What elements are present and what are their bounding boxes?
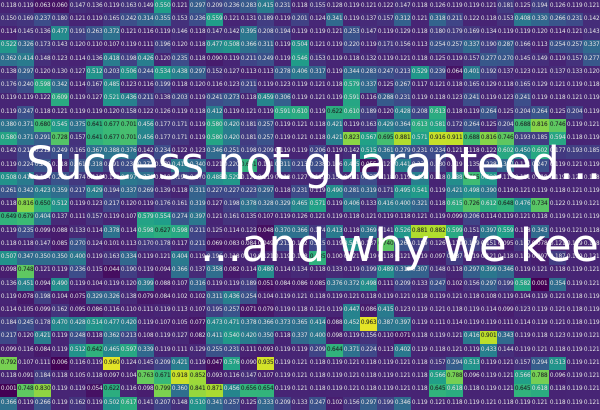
heatmap-cell-value: 0.203 [104, 70, 120, 76]
heatmap-cell-value: 0.119 [275, 308, 291, 314]
heatmap-cell-value: 0.147 [395, 4, 411, 10]
heatmap-cell: 0.125 [377, 79, 394, 92]
heatmap-cell-value: 0.119 [498, 176, 514, 182]
heatmap-cell-value: 0.115 [86, 268, 102, 274]
heatmap-cell: 0.136 [86, 0, 103, 13]
heatmap-cell-value: 0.612 [481, 202, 497, 208]
heatmap-cell-value: 0.326 [18, 43, 34, 49]
heatmap-cell-value: 0.498 [464, 189, 480, 195]
heatmap-cell-value: 0.125 [481, 123, 497, 129]
heatmap-cell-value: 0.622 [104, 387, 120, 393]
heatmap-cell-value: 0.119 [138, 202, 154, 208]
heatmap-cell-value: 0.119 [446, 4, 462, 10]
heatmap-cell-value: 0.118 [361, 295, 377, 301]
heatmap-cell: 0.316 [189, 278, 206, 291]
heatmap-cell-value: 0.213 [275, 242, 291, 248]
heatmap-cell-value: 0.121 [532, 70, 548, 76]
heatmap-cell-value: 0.099 [35, 229, 51, 235]
heatmap-cell-value: 0.209 [309, 348, 325, 354]
heatmap-cell-value: 0.559 [498, 229, 514, 235]
heatmap-cell: 0.118 [51, 370, 68, 383]
heatmap-cell-value: 0.119 [584, 215, 600, 221]
heatmap-cell: 0.125 [240, 397, 257, 410]
heatmap-cell: 0.677 [103, 119, 120, 132]
heatmap-cell: 0.118 [86, 370, 103, 383]
heatmap-cell: 0.121 [514, 185, 531, 198]
heatmap-cell-value: 0.615 [446, 202, 462, 208]
heatmap-cell-value: 0.121 [549, 295, 565, 301]
heatmap-cell: 0.130 [51, 66, 68, 79]
heatmap-cell-value: 0.119 [104, 176, 120, 182]
heatmap-cell: 0.119 [566, 278, 583, 291]
heatmap-cell: 0.118 [309, 370, 326, 383]
heatmap-cell: 0.438 [171, 66, 188, 79]
heatmap-cell: 0.123 [514, 304, 531, 317]
heatmap-cell: 0.156 [394, 40, 411, 53]
heatmap-cell-value: 0.119 [566, 334, 582, 340]
heatmap-cell: 0.104 [51, 291, 68, 304]
heatmap-cell-value: 0.249 [258, 57, 274, 63]
heatmap-cell: 0.118 [549, 397, 566, 410]
heatmap-cell-value: 0.240 [18, 83, 34, 89]
heatmap-cell-value: 0.119 [464, 321, 480, 327]
heatmap-cell-value: 0.100 [326, 255, 342, 261]
heatmap-cell: 0.121 [583, 370, 600, 383]
heatmap-cell: 0.121 [343, 172, 360, 185]
heatmap-cell: 0.110 [377, 331, 394, 344]
heatmap-cell: 0.119 [514, 26, 531, 39]
heatmap-cell-value: 0.096 [549, 374, 565, 380]
heatmap-cell-value: 0.248 [69, 334, 85, 340]
heatmap-cell: 0.212 [34, 145, 51, 158]
heatmap-cell-value: 0.178 [35, 321, 51, 327]
heatmap-cell: 0.119 [566, 357, 583, 370]
heatmap-cell: 0.121 [240, 106, 257, 119]
heatmap-cell: 0.118 [86, 331, 103, 344]
heatmap-cell: 0.084 [274, 278, 291, 291]
heatmap-cell: 0.136 [0, 278, 17, 291]
heatmap-cell-value: 0.263 [86, 30, 102, 36]
heatmap-cell-value: 0.137 [52, 215, 68, 221]
heatmap-cell-value: 0.119 [326, 215, 342, 221]
heatmap-cell: 0.119 [103, 212, 120, 225]
heatmap-cell-value: 0.319 [189, 202, 205, 208]
heatmap-cell: 0.294 [446, 357, 463, 370]
heatmap-cell: 0.111 [69, 212, 86, 225]
heatmap-cell-value: 0.236 [69, 268, 85, 274]
heatmap-cell: 0.119 [411, 251, 428, 264]
heatmap-cell-value: 0.119 [566, 361, 582, 367]
heatmap-cell: 0.104 [257, 291, 274, 304]
heatmap-cell-value: 0.194 [275, 30, 291, 36]
heatmap-cell: 0.249 [257, 53, 274, 66]
heatmap-cell: 0.247 [531, 159, 548, 172]
heatmap-cell: 0.181 [240, 119, 257, 132]
heatmap-cell: 0.118 [549, 185, 566, 198]
heatmap-cell: 0.127 [69, 66, 86, 79]
heatmap-cell-value: 0.118 [361, 361, 377, 367]
heatmap-cell: 0.189 [257, 13, 274, 26]
heatmap-cell-value: 0.881 [412, 229, 428, 235]
heatmap-cell: 0.121 [446, 344, 463, 357]
heatmap-cell: 0.399 [480, 265, 497, 278]
heatmap-cell-value: 0.121 [309, 83, 325, 89]
heatmap-cell-value: 0.317 [395, 268, 411, 274]
heatmap-cell: 0.418 [103, 53, 120, 66]
heatmap-cell: 0.318 [429, 13, 446, 26]
heatmap-cell-value: 0.397 [395, 321, 411, 327]
heatmap-cell: 0.121 [51, 106, 68, 119]
heatmap-cell-value: 0.121 [566, 215, 582, 221]
heatmap-cell-value: 0.116 [121, 387, 137, 393]
heatmap-cell: 0.119 [566, 265, 583, 278]
heatmap-cell: 0.208 [411, 106, 428, 119]
heatmap-cell-value: 0.110 [121, 308, 137, 314]
heatmap-cell: 0.085 [51, 238, 68, 251]
heatmap-cell: 0.415 [171, 159, 188, 172]
heatmap-cell-value: 0.118 [189, 57, 205, 63]
heatmap-cell-value: 0.123 [189, 149, 205, 155]
heatmap-cell: 0.141 [137, 397, 154, 410]
heatmap-cell-value: 0.121 [566, 229, 582, 235]
heatmap-cell: 0.049 [257, 238, 274, 251]
heatmap-cell-value: 0.118 [378, 176, 394, 182]
heatmap-cell-value: 0.098 [326, 334, 342, 340]
heatmap-cell-value: 0.194 [104, 189, 120, 195]
heatmap-cell-value: 0.118 [35, 110, 51, 116]
heatmap-cell: 0.911 [446, 132, 463, 145]
heatmap-cell: 0.118 [240, 93, 257, 106]
heatmap-cell: 0.194 [274, 26, 291, 39]
heatmap-cell-value: 0.116 [104, 308, 120, 314]
heatmap-cell: 0.288 [377, 93, 394, 106]
heatmap-cell: 0.119 [497, 291, 514, 304]
heatmap-cell-value: 0.119 [361, 43, 377, 49]
heatmap-cell: 0.118 [497, 251, 514, 264]
heatmap-cell: 0.370 [274, 225, 291, 238]
heatmap-cell: 0.149 [531, 53, 548, 66]
heatmap-cell: 0.180 [429, 26, 446, 39]
heatmap-cell-value: 0.118 [378, 255, 394, 261]
heatmap-cell: 0.138 [0, 66, 17, 79]
heatmap-cell-value: 0.118 [1, 242, 17, 248]
heatmap-cell-value: 0.852 [189, 374, 205, 380]
heatmap-cell-value: 0.220 [224, 162, 240, 168]
heatmap-cell: 0.434 [411, 172, 428, 185]
heatmap-cell-value: 0.119 [275, 43, 291, 49]
heatmap-cell: 0.504 [291, 40, 308, 53]
heatmap-cell: 0.119 [514, 397, 531, 410]
heatmap-cell-value: 0.107 [258, 215, 274, 221]
heatmap-cell: 0.121 [394, 384, 411, 397]
heatmap-cell: 0.452 [343, 317, 360, 330]
heatmap-cell-value: 0.118 [549, 189, 565, 195]
heatmap-cell: 0.121 [480, 251, 497, 264]
heatmap-cell-value: 0.118 [429, 176, 445, 182]
heatmap-cell-value: 0.119 [515, 255, 531, 261]
heatmap-cell-value: 0.209 [258, 149, 274, 155]
heatmap-cell-value: 0.512 [86, 70, 102, 76]
heatmap-cell-value: 0.119 [104, 4, 120, 10]
heatmap-cell-value: 0.121 [584, 268, 600, 274]
heatmap-cell-value: 0.264 [532, 110, 548, 116]
heatmap-cell-value: 0.436 [224, 295, 240, 301]
heatmap-cell-value: 0.111 [35, 361, 51, 367]
heatmap-cell: 0.515 [360, 145, 377, 158]
heatmap-cell-value: 0.114 [1, 30, 17, 36]
heatmap-cell-value: 0.123 [275, 83, 291, 89]
heatmap-cell-value: 0.654 [258, 387, 274, 393]
heatmap-cell-value: 0.114 [69, 57, 85, 63]
heatmap-cell: 0.171 [377, 185, 394, 198]
heatmap-cell-value: 0.270 [69, 242, 85, 248]
heatmap-cell-value: 0.199 [464, 242, 480, 248]
heatmap-cell: 0.119 [411, 93, 428, 106]
heatmap-cell: 0.121 [343, 384, 360, 397]
heatmap-cell: 0.123 [274, 79, 291, 92]
heatmap-cell: 0.196 [206, 251, 223, 264]
heatmap-cell: 0.116 [17, 344, 34, 357]
heatmap-cell-value: 0.111 [69, 215, 85, 221]
heatmap-cell: 0.123 [549, 331, 566, 344]
heatmap-cell-value: 0.049 [258, 242, 274, 248]
heatmap-cell: 0.378 [103, 225, 120, 238]
heatmap-cell: 0.119 [189, 132, 206, 145]
heatmap-cell-value: 0.748 [18, 268, 34, 274]
heatmap-cell-value: 0.121 [481, 4, 497, 10]
heatmap-cell-value: 0.180 [429, 30, 445, 36]
heatmap-cell: 0.119 [0, 291, 17, 304]
heatmap-cell-value: 0.119 [412, 308, 428, 314]
heatmap-cell: 0.688 [514, 119, 531, 132]
heatmap-cell: 0.235 [171, 53, 188, 66]
heatmap-cell: 0.428 [394, 106, 411, 119]
heatmap-cell: 0.119 [274, 13, 291, 26]
heatmap-cell: 0.121 [531, 265, 548, 278]
heatmap-cell: 0.114 [549, 26, 566, 39]
heatmap-cell-value: 0.147 [361, 30, 377, 36]
heatmap-cell-value: 0.118 [549, 348, 565, 354]
heatmap-cell: 0.650 [34, 198, 51, 211]
heatmap-cell: 0.361 [377, 145, 394, 158]
heatmap-cell-value: 0.099 [446, 215, 462, 221]
heatmap-cell: 0.118 [274, 185, 291, 198]
heatmap-cell: 0.119 [326, 291, 343, 304]
heatmap-cell-value: 0.119 [86, 401, 102, 407]
heatmap-cell-value: 0.118 [172, 83, 188, 89]
heatmap-cell-value: 0.198 [121, 57, 137, 63]
heatmap-cell: 0.121 [360, 0, 377, 13]
heatmap-cell: 0.118 [51, 159, 68, 172]
heatmap-cell: 0.726 [463, 198, 480, 211]
heatmap-cell: 0.257 [446, 40, 463, 53]
heatmap-cell-value: 0.126 [549, 4, 565, 10]
heatmap-cell-value: 0.247 [532, 162, 548, 168]
heatmap-cell: 0.119 [274, 384, 291, 397]
heatmap-cell: 0.119 [291, 79, 308, 92]
heatmap-cell-value: 0.064 [446, 70, 462, 76]
heatmap-cell: 0.242 [120, 13, 137, 26]
heatmap-cell-value: 0.121 [498, 361, 514, 367]
heatmap-cell-value: 0.122 [481, 149, 497, 155]
heatmap-cell: 0.118 [463, 145, 480, 158]
heatmap-cell: 0.612 [480, 198, 497, 211]
heatmap-cell: 0.127 [377, 159, 394, 172]
heatmap-cell-value: 0.209 [395, 281, 411, 287]
heatmap-cell-value: 0.266 [549, 17, 565, 23]
heatmap-cell: 0.137 [51, 212, 68, 225]
heatmap-cell-value: 0.701 [121, 136, 137, 142]
heatmap-cell: 0.375 [69, 119, 86, 132]
heatmap-cell: 0.121 [583, 344, 600, 357]
heatmap-cell: 0.121 [531, 66, 548, 79]
heatmap-cell: 0.195 [206, 304, 223, 317]
heatmap-cell-value: 0.114 [1, 308, 17, 314]
heatmap-cell-value: 0.119 [429, 215, 445, 221]
heatmap-cell: 0.137 [549, 66, 566, 79]
heatmap-cell: 0.119 [583, 317, 600, 330]
heatmap-cell: 0.097 [531, 251, 548, 264]
heatmap-cell: 0.355 [154, 13, 171, 26]
heatmap-cell-value: 0.326 [104, 295, 120, 301]
heatmap-cell: 0.319 [189, 198, 206, 211]
heatmap-cell: 0.121 [549, 238, 566, 251]
heatmap-cell-value: 0.155 [309, 4, 325, 10]
heatmap-cell: 0.099 [0, 344, 17, 357]
heatmap-cell-value: 0.489 [378, 268, 394, 274]
heatmap-cell-value: 0.118 [189, 30, 205, 36]
heatmap-cell-value: 0.191 [104, 162, 120, 168]
heatmap-cell-value: 0.170 [189, 176, 205, 182]
heatmap-cell-value: 0.137 [189, 268, 205, 274]
heatmap-cell: 0.107 [257, 212, 274, 225]
heatmap-cell: 0.118 [326, 79, 343, 92]
heatmap-cell: 0.576 [223, 357, 240, 370]
heatmap-cell: 0.121 [549, 79, 566, 92]
heatmap-cell-value: 0.267 [395, 83, 411, 89]
heatmap-cell-value: 0.264 [464, 123, 480, 129]
heatmap-cell: 0.125 [549, 106, 566, 119]
heatmap-cell: 0.841 [189, 384, 206, 397]
heatmap-cell: 0.609 [51, 93, 68, 106]
heatmap-cell-value: 0.105 [172, 321, 188, 327]
heatmap-cell: 0.254 [549, 40, 566, 53]
heatmap-cell: 0.119 [0, 159, 17, 172]
heatmap-cell-value: 0.253 [344, 30, 360, 36]
heatmap-cell: 0.591 [343, 93, 360, 106]
heatmap-cell: 0.119 [566, 251, 583, 264]
heatmap-cell: 0.116 [120, 384, 137, 397]
heatmap-cell: 0.257 [257, 119, 274, 132]
heatmap-cell: 0.119 [274, 145, 291, 158]
heatmap-cell: 0.187 [549, 251, 566, 264]
heatmap-cell-value: 0.120 [172, 43, 188, 49]
heatmap-cell: 0.266 [34, 159, 51, 172]
heatmap-cell: 0.119 [326, 357, 343, 370]
heatmap-cell-value: 0.147 [35, 242, 51, 248]
heatmap-cell-value: 0.245 [18, 321, 34, 327]
heatmap-cell: 0.098 [137, 384, 154, 397]
heatmap-cell-value: 0.380 [1, 123, 17, 129]
heatmap-cell: 0.217 [103, 198, 120, 211]
heatmap-cell-value: 0.118 [584, 242, 600, 248]
heatmap-cell: 0.366 [0, 397, 17, 410]
heatmap-cell-value: 0.746 [549, 123, 565, 129]
heatmap-cell-value: 0.498 [361, 281, 377, 287]
heatmap-cell: 0.157 [377, 13, 394, 26]
heatmap-cell: 0.118 [360, 357, 377, 370]
heatmap-cell-value: 0.512 [69, 348, 85, 354]
heatmap-cell: 0.546 [291, 53, 308, 66]
heatmap-cell: 0.495 [394, 185, 411, 198]
heatmap-cell: 0.121 [411, 212, 428, 225]
heatmap-cell: 0.594 [549, 132, 566, 145]
heatmap-cell: 0.144 [497, 344, 514, 357]
heatmap-cell-value: 0.916 [429, 136, 445, 142]
heatmap-cell-value: 0.249 [52, 149, 68, 155]
heatmap-cell-value: 0.121 [292, 295, 308, 301]
heatmap-cell: 0.119 [566, 79, 583, 92]
heatmap-cell-value: 0.355 [155, 17, 171, 23]
heatmap-cell-value: 0.119 [52, 334, 68, 340]
heatmap-cell-value: 0.119 [326, 43, 342, 49]
heatmap-cell-value: 0.337 [464, 43, 480, 49]
heatmap-cell: 0.111 [34, 357, 51, 370]
heatmap-cell: 0.119 [566, 384, 583, 397]
heatmap-cell: 0.119 [86, 251, 103, 264]
heatmap-cell: 0.341 [206, 397, 223, 410]
heatmap-cell: 0.119 [566, 331, 583, 344]
heatmap-cell: 0.174 [309, 225, 326, 238]
heatmap-cell-value: 0.125 [241, 401, 257, 407]
heatmap-cell-value: 0.438 [172, 70, 188, 76]
heatmap-cell: 0.740 [377, 238, 394, 251]
heatmap-cell-value: 0.118 [275, 189, 291, 195]
heatmap-cell: 0.107 [189, 304, 206, 317]
heatmap-cell-value: 0.118 [309, 361, 325, 367]
heatmap-cell: 0.104 [86, 278, 103, 291]
heatmap-cell-value: 0.121 [498, 387, 514, 393]
heatmap-cell-value: 0.204 [498, 123, 514, 129]
heatmap-cell: 0.277 [583, 53, 600, 66]
heatmap-cell-value: 0.118 [52, 162, 68, 168]
heatmap-cell: 0.273 [223, 93, 240, 106]
heatmap-cell: 0.247 [17, 106, 34, 119]
heatmap-cell-value: 0.129 [481, 83, 497, 89]
heatmap-cell-value: 0.121 [549, 308, 565, 314]
heatmap-cell-value: 0.156 [361, 334, 377, 340]
heatmap-cell-value: 0.434 [412, 176, 428, 182]
heatmap-cell-value: 0.763 [138, 374, 154, 380]
heatmap-cell-value: 0.118 [309, 374, 325, 380]
heatmap-cell-value: 0.261 [52, 176, 68, 182]
heatmap-cell-value: 0.406 [292, 70, 308, 76]
heatmap-cell-value: 0.107 [155, 321, 171, 327]
heatmap-cell: 0.119 [257, 106, 274, 119]
heatmap-cell-value: 0.125 [498, 110, 514, 116]
heatmap-cell-value: 0.297 [189, 4, 205, 10]
heatmap-cell: 0.415 [257, 0, 274, 13]
heatmap-cell: 0.147 [240, 370, 257, 383]
heatmap-cell: 0.151 [463, 225, 480, 238]
heatmap-cell-value: 0.490 [326, 189, 342, 195]
heatmap-cell-value: 0.237 [121, 162, 137, 168]
heatmap-cell: 0.641 [240, 159, 257, 172]
heatmap-cell-value: 0.180 [52, 17, 68, 23]
heatmap-cell-value: 0.370 [275, 229, 291, 235]
heatmap-cell: 0.114 [480, 212, 497, 225]
heatmap-cell-value: 0.123 [395, 308, 411, 314]
